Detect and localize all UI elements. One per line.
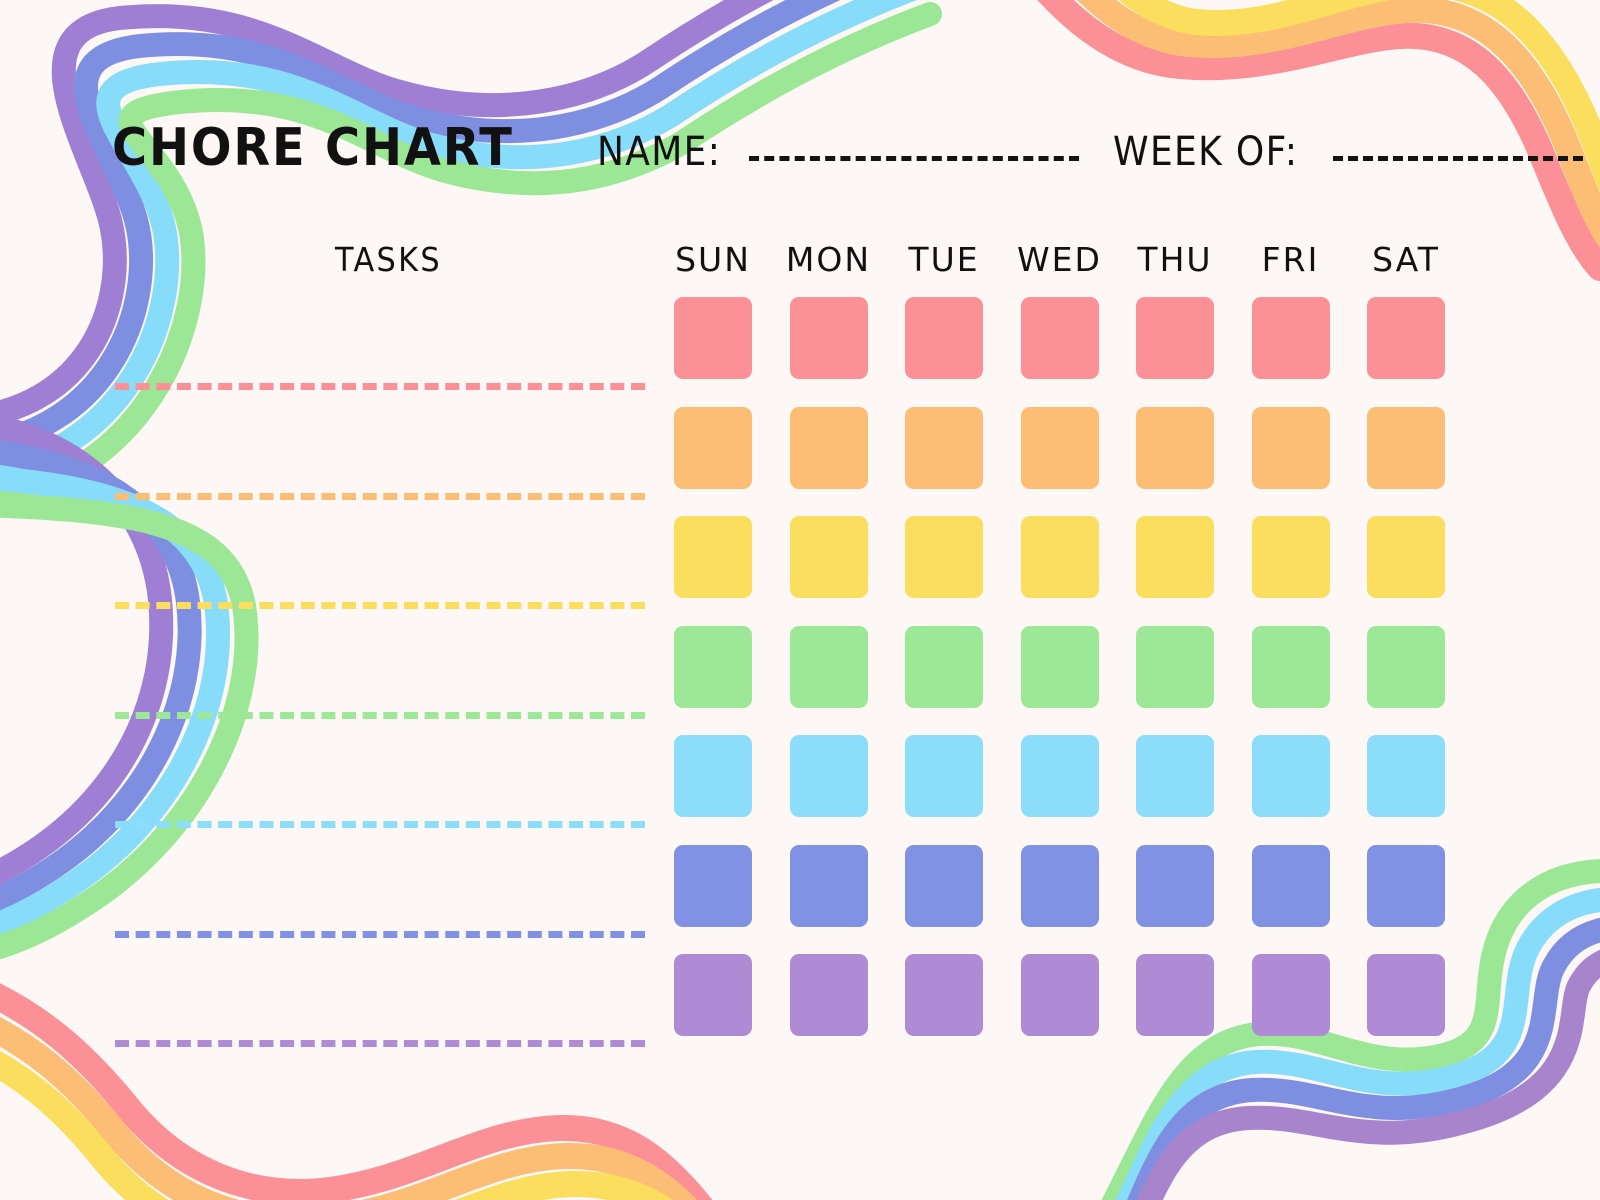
chore-row	[0, 845, 1600, 955]
chore-row	[0, 954, 1600, 1064]
chore-checkbox-tue[interactable]	[905, 626, 983, 708]
chore-row	[0, 735, 1600, 845]
chore-checkbox-thu[interactable]	[1136, 845, 1214, 927]
chore-checkbox-sun[interactable]	[674, 735, 752, 817]
chore-checkbox-wed[interactable]	[1021, 407, 1099, 489]
task-input-line[interactable]	[115, 493, 645, 500]
chore-checkbox-tue[interactable]	[905, 845, 983, 927]
chore-checkbox-mon[interactable]	[790, 516, 868, 598]
chore-checkbox-sun[interactable]	[674, 297, 752, 379]
task-input-line[interactable]	[115, 602, 645, 609]
chore-checkbox-fri[interactable]	[1252, 845, 1330, 927]
chore-checkbox-sat[interactable]	[1367, 407, 1445, 489]
chore-checkbox-mon[interactable]	[790, 407, 868, 489]
chore-checkbox-thu[interactable]	[1136, 735, 1214, 817]
chore-checkbox-thu[interactable]	[1136, 626, 1214, 708]
chore-checkbox-wed[interactable]	[1021, 954, 1099, 1036]
chore-grid	[0, 0, 1600, 1200]
chore-checkbox-sat[interactable]	[1367, 845, 1445, 927]
chore-checkbox-mon[interactable]	[790, 954, 868, 1036]
chore-checkbox-fri[interactable]	[1252, 297, 1330, 379]
chore-checkbox-tue[interactable]	[905, 516, 983, 598]
task-input-line[interactable]	[115, 821, 645, 828]
chore-checkbox-tue[interactable]	[905, 407, 983, 489]
task-input-line[interactable]	[115, 383, 645, 390]
chore-checkbox-wed[interactable]	[1021, 845, 1099, 927]
chore-checkbox-mon[interactable]	[790, 626, 868, 708]
chore-checkbox-sun[interactable]	[674, 954, 752, 1036]
chore-checkbox-wed[interactable]	[1021, 516, 1099, 598]
chore-checkbox-sat[interactable]	[1367, 735, 1445, 817]
task-input-line[interactable]	[115, 1040, 645, 1047]
chore-checkbox-fri[interactable]	[1252, 516, 1330, 598]
chore-checkbox-tue[interactable]	[905, 297, 983, 379]
chore-checkbox-fri[interactable]	[1252, 407, 1330, 489]
chore-checkbox-tue[interactable]	[905, 735, 983, 817]
chore-checkbox-sat[interactable]	[1367, 516, 1445, 598]
chore-checkbox-thu[interactable]	[1136, 297, 1214, 379]
chore-checkbox-sat[interactable]	[1367, 297, 1445, 379]
chore-checkbox-sun[interactable]	[674, 516, 752, 598]
chore-row	[0, 516, 1600, 626]
chore-checkbox-sun[interactable]	[674, 407, 752, 489]
chore-checkbox-thu[interactable]	[1136, 516, 1214, 598]
chore-checkbox-thu[interactable]	[1136, 954, 1214, 1036]
task-input-line[interactable]	[115, 712, 645, 719]
chore-chart-page: CHORE CHART NAME: WEEK OF: TASKS SUNMONT…	[0, 0, 1600, 1200]
chore-checkbox-wed[interactable]	[1021, 626, 1099, 708]
chore-checkbox-mon[interactable]	[790, 845, 868, 927]
chore-checkbox-sat[interactable]	[1367, 626, 1445, 708]
chore-checkbox-sun[interactable]	[674, 845, 752, 927]
chore-row	[0, 407, 1600, 517]
chore-checkbox-fri[interactable]	[1252, 626, 1330, 708]
task-input-line[interactable]	[115, 931, 645, 938]
chore-checkbox-fri[interactable]	[1252, 954, 1330, 1036]
chore-checkbox-wed[interactable]	[1021, 297, 1099, 379]
chore-checkbox-sun[interactable]	[674, 626, 752, 708]
chore-row	[0, 626, 1600, 736]
chore-row	[0, 297, 1600, 407]
chore-checkbox-mon[interactable]	[790, 297, 868, 379]
chore-checkbox-fri[interactable]	[1252, 735, 1330, 817]
chore-checkbox-mon[interactable]	[790, 735, 868, 817]
chore-checkbox-sat[interactable]	[1367, 954, 1445, 1036]
chore-checkbox-tue[interactable]	[905, 954, 983, 1036]
chore-checkbox-wed[interactable]	[1021, 735, 1099, 817]
chore-checkbox-thu[interactable]	[1136, 407, 1214, 489]
